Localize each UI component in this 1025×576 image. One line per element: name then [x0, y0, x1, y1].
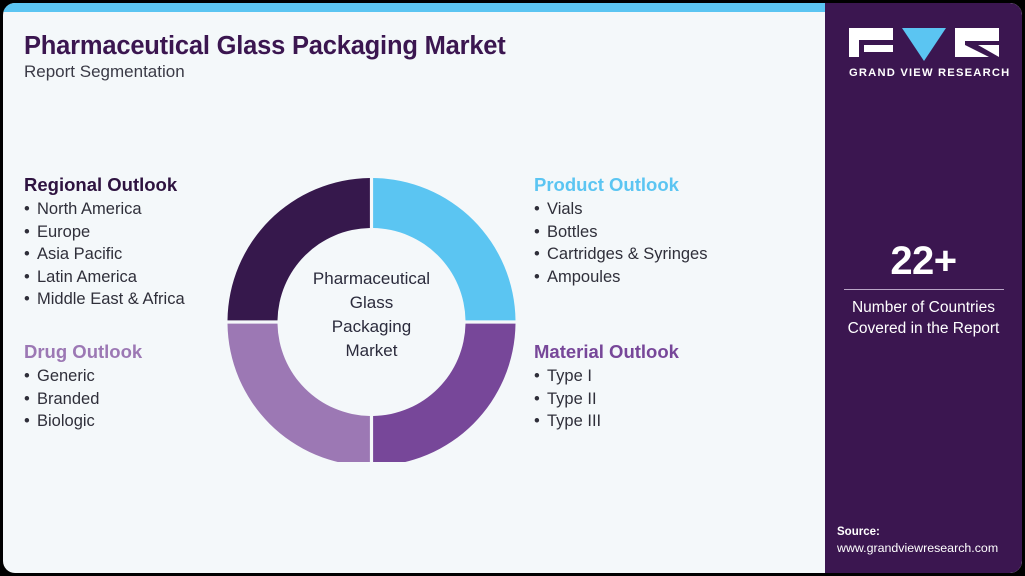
list-item: Generic [24, 365, 142, 388]
material-outlook-heading: Material Outlook [534, 341, 679, 363]
page-title: Pharmaceutical Glass Packaging Market [24, 32, 506, 61]
donut-segment-drug [228, 324, 370, 462]
product-outlook-list: Vials Bottles Cartridges & Syringes Ampo… [534, 198, 707, 288]
material-outlook-list: Type I Type II Type III [534, 365, 679, 433]
donut-segment-regional [228, 178, 370, 320]
stat-divider [844, 289, 1004, 290]
brand-logo: GRAND VIEW RESEARCH [849, 28, 999, 79]
list-item: North America [24, 198, 185, 221]
list-item: Bottles [534, 221, 707, 244]
donut-chart: Pharmaceutical Glass Packaging Market [224, 167, 519, 462]
source-label: Source: [837, 526, 1022, 538]
infographic-card: Pharmaceutical Glass Packaging Market Re… [3, 3, 1022, 573]
stat-block: 22+ Number of Countries Covered in the R… [825, 239, 1022, 339]
stat-value: 22+ [825, 239, 1022, 283]
content-area: Pharmaceutical Glass Packaging Market Re… [3, 12, 825, 573]
section-product-outlook: Product Outlook Vials Bottles Cartridges… [534, 174, 707, 288]
donut-segment-product [373, 178, 515, 320]
list-item: Cartridges & Syringes [534, 243, 707, 266]
donut-segment-material [373, 324, 515, 462]
list-item: Branded [24, 388, 142, 411]
brand-logo-text: GRAND VIEW RESEARCH [849, 67, 999, 79]
gvr-logo-icon [849, 28, 999, 62]
source-block: Source: www.grandviewresearch.com [837, 526, 1022, 555]
list-item: Ampoules [534, 266, 707, 289]
source-url[interactable]: www.grandviewresearch.com [837, 541, 1022, 555]
list-item: Biologic [24, 410, 142, 433]
list-item: Type I [534, 365, 679, 388]
drug-outlook-heading: Drug Outlook [24, 341, 142, 363]
list-item: Latin America [24, 266, 185, 289]
list-item: Middle East & Africa [24, 288, 185, 311]
side-panel: GRAND VIEW RESEARCH 22+ Number of Countr… [825, 3, 1022, 573]
list-item: Type II [534, 388, 679, 411]
drug-outlook-list: Generic Branded Biologic [24, 365, 142, 433]
donut-chart-svg [224, 167, 519, 462]
product-outlook-heading: Product Outlook [534, 174, 707, 196]
section-drug-outlook: Drug Outlook Generic Branded Biologic [24, 341, 142, 433]
list-item: Type III [534, 410, 679, 433]
stat-label-line-1: Number of Countries [825, 297, 1022, 318]
page-subtitle: Report Segmentation [24, 62, 185, 82]
section-regional-outlook: Regional Outlook North America Europe As… [24, 174, 185, 311]
stat-label-line-2: Covered in the Report [825, 318, 1022, 339]
section-material-outlook: Material Outlook Type I Type II Type III [534, 341, 679, 433]
regional-outlook-list: North America Europe Asia Pacific Latin … [24, 198, 185, 311]
list-item: Europe [24, 221, 185, 244]
infographic-canvas: Pharmaceutical Glass Packaging Market Re… [0, 0, 1025, 576]
top-accent-bar [3, 3, 825, 12]
regional-outlook-heading: Regional Outlook [24, 174, 185, 196]
list-item: Vials [534, 198, 707, 221]
list-item: Asia Pacific [24, 243, 185, 266]
